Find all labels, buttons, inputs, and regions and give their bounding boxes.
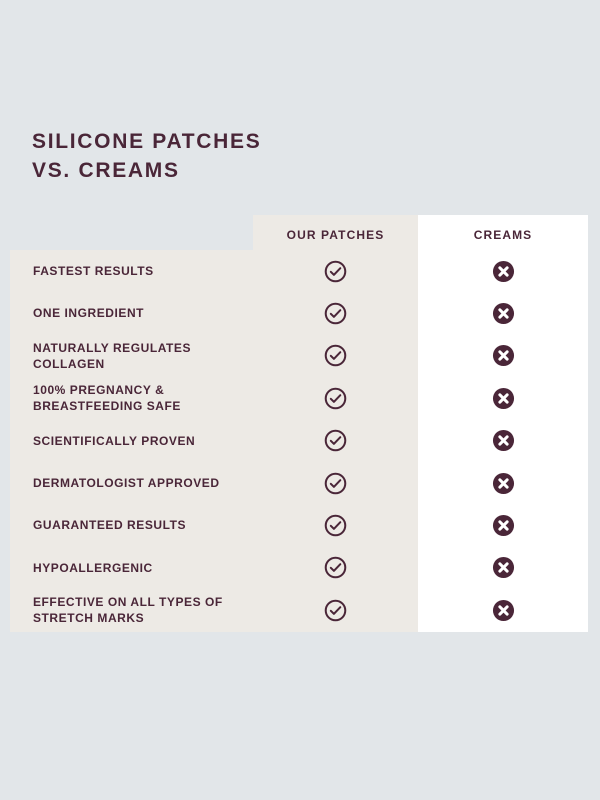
table-row: HYPOALLERGENIC [10,547,588,589]
cell-creams [418,589,588,631]
check-circle-icon [324,344,347,367]
check-circle-icon [324,260,347,283]
check-circle-icon [324,472,347,495]
page-title: SILICONE PATCHES VS. CREAMS [32,127,372,185]
cell-our-patches [253,292,418,334]
cell-creams [418,504,588,546]
cell-creams [418,292,588,334]
check-circle-icon [324,556,347,579]
feature-label: HYPOALLERGENIC [33,560,251,576]
table-row: 100% PREGNANCY & BREASTFEEDING SAFE [10,377,588,419]
x-circle-icon [492,514,515,537]
table-row: SCIENTIFICALLY PROVEN [10,420,588,462]
feature-label: DERMATOLOGIST APPROVED [33,475,251,491]
table-row: GUARANTEED RESULTS [10,504,588,546]
cell-our-patches [253,335,418,377]
table-row: ONE INGREDIENT [10,292,588,334]
cell-creams [418,250,588,292]
cell-our-patches [253,504,418,546]
x-circle-icon [492,429,515,452]
x-circle-icon [492,599,515,622]
table-row: NATURALLY REGULATES COLLAGEN [10,335,588,377]
table-row: DERMATOLOGIST APPROVED [10,462,588,504]
x-circle-icon [492,302,515,325]
table-row: FASTEST RESULTS [10,250,588,292]
check-circle-icon [324,429,347,452]
feature-label: NATURALLY REGULATES COLLAGEN [33,340,251,372]
check-circle-icon [324,387,347,410]
check-circle-icon [324,514,347,537]
page-title-line-1: SILICONE PATCHES [32,127,372,156]
cell-our-patches [253,420,418,462]
column-header-our-patches: OUR PATCHES [253,226,418,244]
cell-our-patches [253,462,418,504]
check-circle-icon [324,302,347,325]
feature-label: GUARANTEED RESULTS [33,517,251,533]
feature-label: ONE INGREDIENT [33,305,251,321]
cell-creams [418,420,588,462]
check-circle-icon [324,599,347,622]
cell-creams [418,377,588,419]
x-circle-icon [492,344,515,367]
feature-label: SCIENTIFICALLY PROVEN [33,433,251,449]
cell-our-patches [253,547,418,589]
feature-label: EFFECTIVE ON ALL TYPES OF STRETCH MARKS [33,594,251,626]
x-circle-icon [492,472,515,495]
column-header-creams: CREAMS [418,226,588,244]
cell-our-patches [253,589,418,631]
x-circle-icon [492,556,515,579]
x-circle-icon [492,387,515,410]
table-row: EFFECTIVE ON ALL TYPES OF STRETCH MARKS [10,589,588,631]
cell-our-patches [253,377,418,419]
cell-creams [418,462,588,504]
page-title-line-2: VS. CREAMS [32,156,372,185]
x-circle-icon [492,260,515,283]
feature-label: 100% PREGNANCY & BREASTFEEDING SAFE [33,382,251,414]
cell-creams [418,335,588,377]
feature-label: FASTEST RESULTS [33,263,251,279]
cell-creams [418,547,588,589]
cell-our-patches [253,250,418,292]
